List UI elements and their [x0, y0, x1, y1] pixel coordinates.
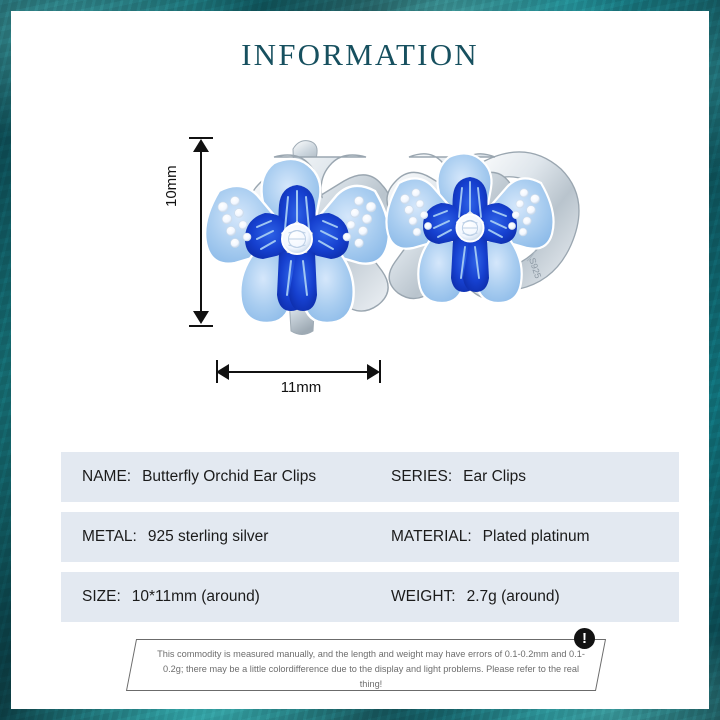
spec-label: METAL:	[82, 528, 137, 546]
spec-value: Butterfly Orchid Ear Clips	[142, 468, 316, 486]
height-dimension-label: 10mm	[163, 165, 180, 207]
spec-label: MATERIAL:	[391, 528, 472, 546]
earrings-illustration: S925	[161, 121, 591, 381]
height-tick-bottom	[189, 325, 213, 327]
spec-value: Plated platinum	[483, 528, 590, 546]
spec-cell-series: SERIES: Ear Clips	[391, 468, 679, 486]
spec-cell-metal: METAL: 925 sterling silver	[61, 528, 391, 546]
spec-cell-weight: WEIGHT: 2.7g (around)	[391, 588, 679, 606]
page-title: INFORMATION	[11, 37, 709, 73]
height-arrow-down-icon	[193, 311, 209, 324]
product-information-card: INFORMATION	[0, 0, 720, 720]
spec-value: 925 sterling silver	[148, 528, 269, 546]
exclamation-icon: !	[574, 628, 595, 649]
disclaimer-text: This commodity is measured manually, and…	[155, 647, 587, 692]
width-tick-right	[379, 360, 381, 383]
spec-label: NAME:	[82, 468, 131, 486]
height-dimension-line	[200, 151, 202, 317]
white-content-card: INFORMATION	[11, 11, 709, 709]
spec-value: 10*11mm (around)	[132, 588, 260, 606]
width-dimension-line	[223, 371, 375, 373]
spec-value: Ear Clips	[463, 468, 526, 486]
product-photo: S925	[161, 121, 591, 381]
spec-label: SERIES:	[391, 468, 452, 486]
disclaimer-banner: This commodity is measured manually, and…	[131, 639, 601, 691]
width-dimension-label: 11mm	[223, 379, 379, 396]
table-row: SIZE: 10*11mm (around) WEIGHT: 2.7g (aro…	[61, 572, 679, 622]
table-row: METAL: 925 sterling silver MATERIAL: Pla…	[61, 512, 679, 562]
spec-label: SIZE:	[82, 588, 121, 606]
spec-cell-name: NAME: Butterfly Orchid Ear Clips	[61, 468, 391, 486]
spec-value: 2.7g (around)	[467, 588, 560, 606]
spec-cell-size: SIZE: 10*11mm (around)	[61, 588, 391, 606]
specifications-table: NAME: Butterfly Orchid Ear Clips SERIES:…	[61, 452, 679, 632]
spec-cell-material: MATERIAL: Plated platinum	[391, 528, 679, 546]
spec-label: WEIGHT:	[391, 588, 456, 606]
table-row: NAME: Butterfly Orchid Ear Clips SERIES:…	[61, 452, 679, 502]
